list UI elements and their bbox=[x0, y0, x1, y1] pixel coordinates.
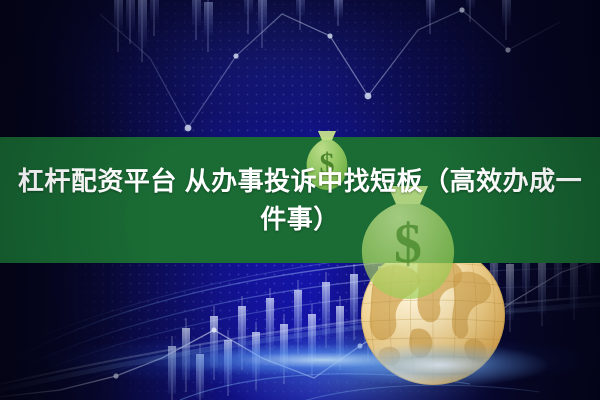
banner-title: 杠杆配资平台 从办事投诉中找短板（高效办成一件事） bbox=[6, 162, 594, 238]
globe-base-glow bbox=[330, 330, 550, 400]
banner-title-container: 杠杆配资平台 从办事投诉中找短板（高效办成一件事） bbox=[0, 137, 600, 263]
banner-image: $ $ 杠杆配资平台 从办事投诉中找短板（高效办成一件事） bbox=[0, 0, 600, 400]
